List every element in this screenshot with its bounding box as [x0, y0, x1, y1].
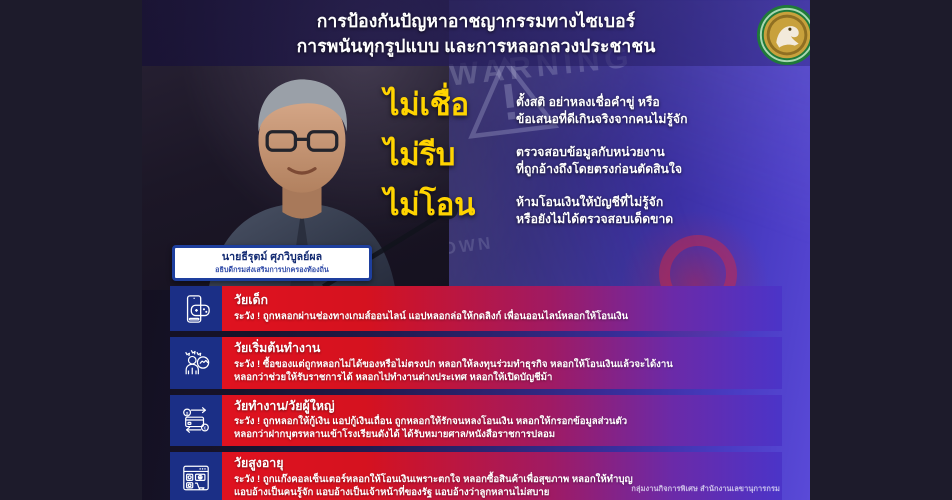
svg-text:€: €	[204, 426, 207, 431]
speaker-name: นายธีรุตม์ ศุภวิบูลย์ผล	[179, 251, 365, 264]
age-group-desc-line-1: ระวัง ! ถูกหลอกให้กู้เงิน แอปกู้เงินเถื่…	[234, 415, 772, 428]
age-group-title: วัยทำงาน/วัยผู้ใหญ่	[234, 399, 772, 415]
age-group-desc: ระวัง ! ซื้อของแต่ถูกหลอกไม่ได้ของหรือไม…	[234, 358, 772, 384]
screenshot-stage: WARNING UNKNOWN	[0, 0, 952, 500]
slogan-desc-2: ตรวจสอบข้อมูลกับหน่วยงาน ที่ถูกอ้างถึงโด…	[516, 138, 804, 178]
speaker-nameplate: นายธีรุตม์ ศุภวิบูลย์ผล อธิบดีกรมส่งเสริ…	[172, 245, 372, 281]
slogan-desc-1: ตั้งสติ อย่าหลงเชื่อคำขู่ หรือ ข้อเสนอที…	[516, 88, 804, 128]
slogan-block: ไม่เชื่อ ตั้งสติ อย่าหลงเชื่อคำขู่ หรือ …	[384, 88, 804, 228]
slogan-desc-1-line-2: ข้อเสนอที่ดีเกินจริงจากคนไม่รู้จัก	[516, 111, 804, 128]
slogan-key-3: ไม่โอน	[384, 188, 516, 221]
businessman-handshake-icon	[170, 337, 222, 389]
slogan-row: ไม่รีบ ตรวจสอบข้อมูลกับหน่วยงาน ที่ถูกอ้…	[384, 138, 804, 178]
list-item-body: วัยเริ่มต้นทำงาน ระวัง ! ซื้อของแต่ถูกหล…	[222, 337, 782, 389]
slogan-desc-2-line-1: ตรวจสอบข้อมูลกับหน่วยงาน	[516, 144, 804, 161]
list-item-body: วัยเด็ก ระวัง ! ถูกหลอกผ่านช่องทางเกมส์อ…	[222, 286, 782, 331]
slogan-row: ไม่โอน ห้ามโอนเงินให้บัญชีที่ไม่รู้จัก ห…	[384, 188, 804, 228]
page-title-line-2: การพนันทุกรูปแบบ และการหลอกลวงประชาชน	[142, 34, 810, 59]
age-group-desc-line-2: หลอกว่าฝากบุตรหลานเข้าโรงเรียนดังได้ ได้…	[234, 428, 772, 441]
age-group-desc-line-1: ระวัง ! ซื้อของแต่ถูกหลอกไม่ได้ของหรือไม…	[234, 358, 772, 371]
slogan-desc-3: ห้ามโอนเงินให้บัญชีที่ไม่รู้จัก หรือยังไ…	[516, 188, 804, 228]
age-group-list: วัยเด็ก ระวัง ! ถูกหลอกผ่านช่องทางเกมส์อ…	[142, 286, 810, 500]
page-title-line-1: การป้องกันปัญหาอาชญากรรมทางไซเบอร์	[142, 9, 810, 34]
footer-credit: กลุ่มงานกิจการพิเศษ สำนักงานเลขานุการกรม	[631, 483, 780, 495]
svg-text:$: $	[186, 411, 189, 416]
infographic-poster: WARNING UNKNOWN	[142, 0, 810, 500]
list-item: วัยเริ่มต้นทำงาน ระวัง ! ซื้อของแต่ถูกหล…	[170, 337, 782, 389]
money-transfer-card-icon: $ €	[170, 395, 222, 447]
slogan-key-2: ไม่รีบ	[384, 138, 516, 171]
online-shopping-browser-icon	[170, 452, 222, 500]
age-group-desc: ระวัง ! ถูกหลอกผ่านช่องทางเกมส์ออนไลน์ แ…	[234, 310, 772, 323]
slogan-row: ไม่เชื่อ ตั้งสติ อย่าหลงเชื่อคำขู่ หรือ …	[384, 88, 804, 128]
slogan-key-1: ไม่เชื่อ	[384, 88, 516, 121]
list-item: วัยเด็ก ระวัง ! ถูกหลอกผ่านช่องทางเกมส์อ…	[170, 286, 782, 331]
slogan-desc-1-line-1: ตั้งสติ อย่าหลงเชื่อคำขู่ หรือ	[516, 94, 804, 111]
age-group-desc-line-2: หลอกว่าช่วยให้รับราชการได้ หลอกไปทำงานต่…	[234, 371, 772, 384]
speaker-role: อธิบดีกรมส่งเสริมการปกครองท้องถิ่น	[179, 265, 365, 274]
age-group-desc-line-1: ระวัง ! ถูกหลอกผ่านช่องทางเกมส์ออนไลน์ แ…	[234, 310, 772, 323]
age-group-title: วัยสูงอายุ	[234, 456, 772, 472]
age-group-desc: ระวัง ! ถูกหลอกให้กู้เงิน แอปกู้เงินเถื่…	[234, 415, 772, 441]
slogan-desc-3-line-1: ห้ามโอนเงินให้บัญชีที่ไม่รู้จัก	[516, 194, 804, 211]
slogan-desc-3-line-2: หรือยังไม่ได้ตรวจสอบเด็ดขาด	[516, 211, 804, 228]
age-group-title: วัยเด็ก	[234, 293, 772, 309]
list-item-body: วัยทำงาน/วัยผู้ใหญ่ ระวัง ! ถูกหลอกให้กู…	[222, 395, 782, 447]
phone-game-controller-icon	[170, 286, 222, 331]
list-item: $ € วัยทำงาน/วัยผู้ใหญ่	[170, 395, 782, 447]
slogan-desc-2-line-2: ที่ถูกอ้างถึงโดยตรงก่อนตัดสินใจ	[516, 161, 804, 178]
poster-header: การป้องกันปัญหาอาชญากรรมทางไซเบอร์ การพน…	[142, 0, 810, 66]
thai-government-seal-icon	[756, 4, 810, 66]
age-group-title: วัยเริ่มต้นทำงาน	[234, 341, 772, 357]
